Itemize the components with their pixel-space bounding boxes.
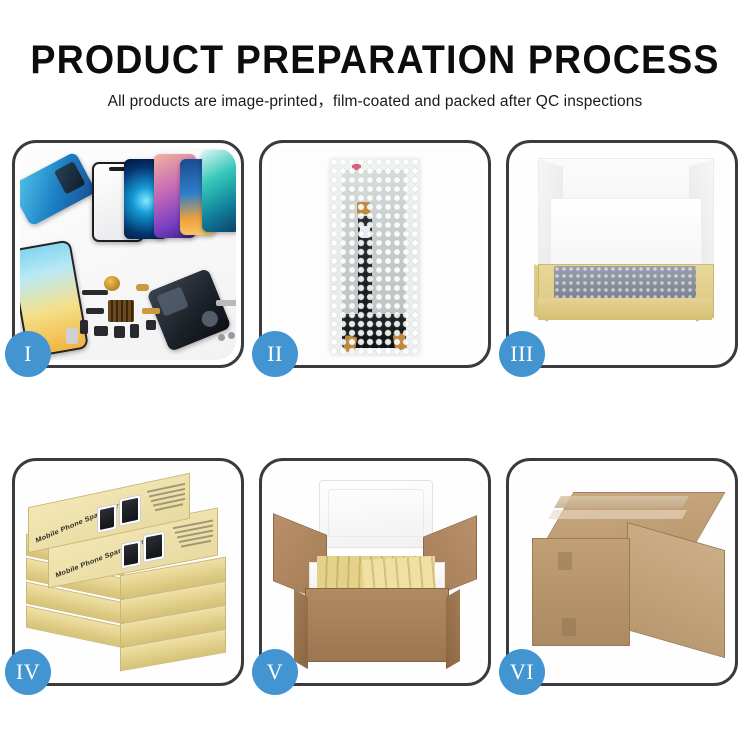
part-chip xyxy=(104,276,120,291)
part-chip xyxy=(86,308,104,314)
foam-lid xyxy=(319,480,433,548)
part-chip xyxy=(80,320,88,334)
page-subtitle: All products are image-printed，film-coat… xyxy=(0,82,750,112)
header: PRODUCT PREPARATION PROCESS All products… xyxy=(0,0,750,112)
part-chip xyxy=(146,320,156,330)
blue-flex-screen xyxy=(20,151,96,226)
step-badge-2: II xyxy=(252,331,298,377)
process-step-6: VI xyxy=(506,458,738,686)
step-6-photo xyxy=(514,466,730,678)
step-badge-1: I xyxy=(5,331,51,377)
bubble-wrap-bag xyxy=(330,158,420,354)
carton-seam xyxy=(562,618,576,636)
step-5-photo xyxy=(267,466,483,678)
part-chip xyxy=(82,290,108,295)
carton-side-face xyxy=(627,522,725,658)
part-chip xyxy=(136,284,149,291)
part-chip xyxy=(218,334,225,341)
process-step-2: II xyxy=(259,140,491,368)
part-chip xyxy=(108,300,134,322)
step-badge-4: IV xyxy=(5,649,51,695)
carton-body xyxy=(305,588,449,662)
step-1-photo xyxy=(20,148,236,360)
part-chip xyxy=(66,328,78,344)
part-chip xyxy=(94,326,108,336)
part-chip xyxy=(228,332,235,339)
part-chip xyxy=(216,300,236,306)
carton-seam xyxy=(558,552,572,570)
packing-tape xyxy=(554,496,689,508)
page-title: PRODUCT PREPARATION PROCESS xyxy=(23,0,728,82)
step-badge-5: V xyxy=(252,649,298,695)
step-badge-3: III xyxy=(499,331,545,377)
process-step-4: Mobile Phone Spare Parts Mobile Phone Sp… xyxy=(12,458,244,686)
bubble-texture xyxy=(330,158,420,354)
part-chip xyxy=(130,324,139,338)
process-step-grid: I II xyxy=(12,140,738,692)
packing-tape xyxy=(548,510,687,519)
carton-front-face xyxy=(532,538,630,646)
part-chip xyxy=(114,326,125,338)
process-step-5: V xyxy=(259,458,491,686)
part-chip xyxy=(142,308,160,314)
tray-front-panel xyxy=(538,298,712,320)
gray-foam-padding xyxy=(554,266,696,298)
step-3-photo xyxy=(514,148,730,360)
step-2-photo xyxy=(267,148,483,360)
process-step-3: III xyxy=(506,140,738,368)
step-badge-6: VI xyxy=(499,649,545,695)
teal-gradient-phone xyxy=(202,150,236,232)
process-step-1: I xyxy=(12,140,244,368)
step-4-photo: Mobile Phone Spare Parts Mobile Phone Sp… xyxy=(20,466,236,678)
box-stack: Mobile Phone Spare Parts Mobile Phone Sp… xyxy=(20,466,236,678)
infographic-page: PRODUCT PREPARATION PROCESS All products… xyxy=(0,0,750,750)
